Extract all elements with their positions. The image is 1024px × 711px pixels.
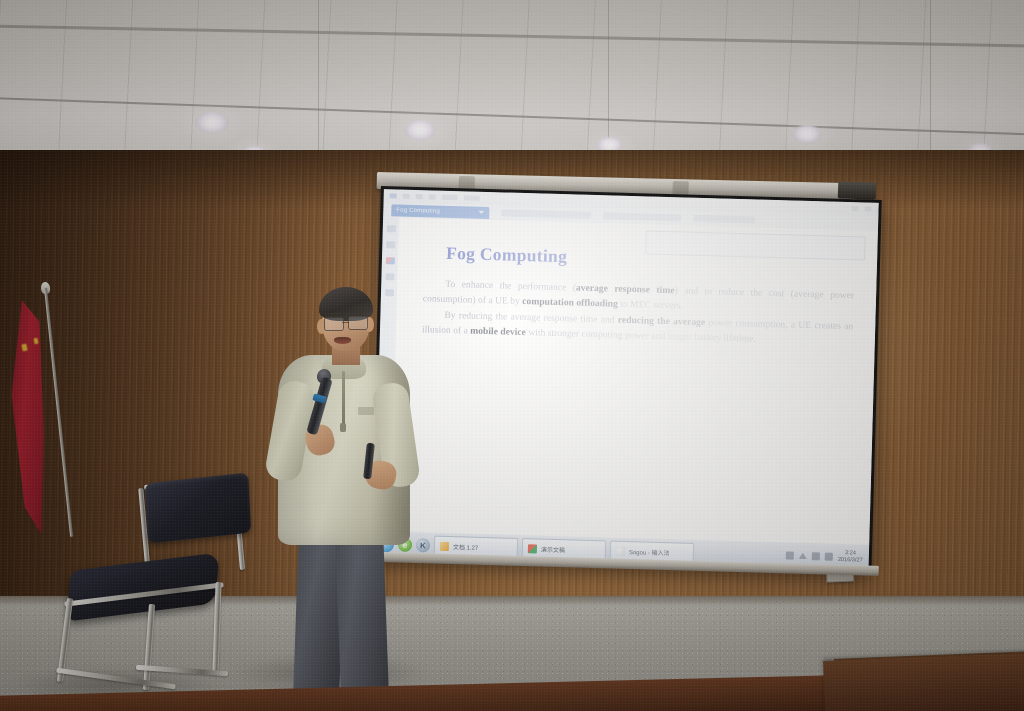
volume-icon[interactable] — [799, 553, 807, 559]
maximize-icon[interactable] — [864, 207, 871, 212]
outline-icon[interactable] — [386, 241, 395, 248]
close-icon[interactable] — [877, 207, 878, 212]
undo-icon[interactable] — [416, 194, 423, 199]
file-icon[interactable] — [390, 193, 397, 198]
glasses-lens-right — [348, 316, 368, 330]
show-desktop-icon[interactable] — [825, 553, 833, 561]
battery-icon[interactable] — [812, 552, 820, 560]
projection-screen: Fog Computing Fog Computing — [371, 186, 882, 574]
clock-time: 3:24 — [845, 550, 856, 556]
chair — [38, 472, 238, 707]
tab-fog-computing[interactable]: Fog Computing — [391, 204, 489, 219]
presenter-mouth — [334, 337, 351, 344]
presentation-icon — [528, 544, 537, 553]
p1-text-a: To enhance the performance ( — [445, 279, 576, 294]
lecture-hall-photo: Fog Computing Fog Computing — [0, 0, 1024, 711]
tab-label: Fog Computing — [396, 207, 440, 214]
presenter-zipper — [342, 371, 345, 425]
p1-bold-a: average response time — [576, 282, 675, 296]
foreground-desk — [823, 653, 1024, 711]
p2-text-a: By reducing the average response time an… — [444, 310, 618, 326]
minimize-icon[interactable] — [851, 206, 858, 211]
print-icon[interactable] — [442, 195, 458, 200]
glasses-bridge — [342, 322, 349, 323]
downlight-icon — [195, 112, 229, 134]
p1-bold-b: computation offloading — [522, 296, 618, 310]
projector-mount-box — [838, 181, 877, 199]
taskbar-item-label: Sogou - 输入法 — [629, 547, 670, 557]
screen-surface: Fog Computing Fog Computing — [374, 189, 879, 571]
menu-item-ghost[interactable] — [501, 209, 591, 219]
presenter-jacket-logo — [358, 407, 374, 415]
glasses-lens-left — [324, 317, 344, 331]
p2-bold-b: mobile device — [470, 325, 526, 338]
p2-bold-a: reducing the average — [618, 315, 706, 328]
network-icon[interactable] — [786, 551, 794, 559]
chair-backrest — [145, 473, 252, 544]
format-icon[interactable] — [464, 195, 480, 200]
document-icon — [440, 541, 449, 550]
downlight-icon — [404, 120, 436, 141]
clock-date: 2016/3/27 — [838, 557, 863, 564]
bookmark-icon[interactable] — [385, 257, 394, 264]
slide-page: Fog Computing To enhance the performance… — [390, 218, 878, 545]
taskbar-item-label: 演示文稿 — [541, 544, 565, 554]
comment-icon[interactable] — [385, 273, 394, 280]
p1-text-c: to MEC servers. — [618, 298, 683, 311]
chevron-down-icon[interactable] — [478, 211, 484, 214]
presenter-zipper-pull — [340, 423, 346, 432]
chair-leg-front-right — [143, 604, 155, 690]
taskbar-item-label: 文档 1.27 — [453, 542, 479, 552]
menu-item-ghost[interactable] — [693, 215, 755, 224]
menu-item-ghost[interactable] — [603, 212, 681, 221]
presenter — [262, 285, 422, 711]
system-tray[interactable]: 3:24 2016/3/27 — [786, 548, 865, 564]
sogou-icon — [616, 546, 625, 555]
slide-body: To enhance the performance (average resp… — [422, 277, 855, 349]
downlight-icon — [792, 125, 822, 144]
thumbnail-icon[interactable] — [386, 225, 395, 232]
presenter-leg-right — [335, 522, 389, 704]
taskbar-clock[interactable]: 3:24 2016/3/27 — [838, 550, 863, 565]
p2-text-c: with stronger computing power and longer… — [526, 327, 756, 344]
redo-icon[interactable] — [429, 194, 436, 199]
save-icon[interactable] — [403, 194, 410, 199]
